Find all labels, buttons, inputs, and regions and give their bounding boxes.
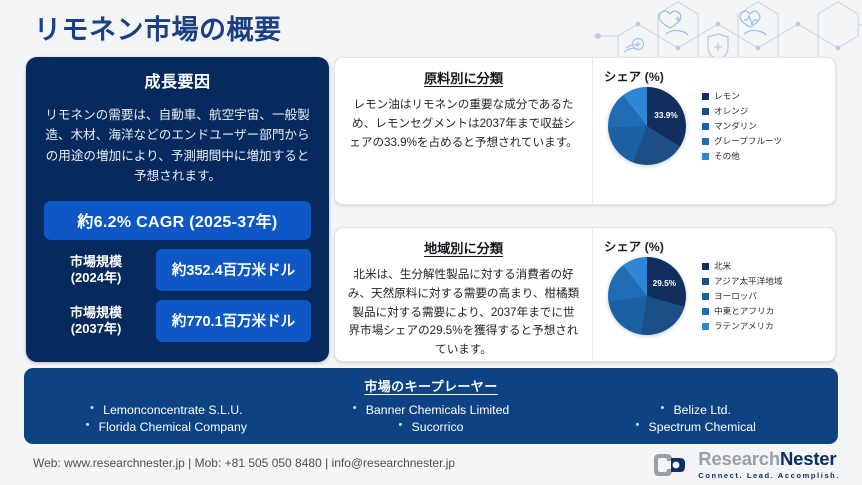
- panel-description: レモン油はリモネンの重要な成分であるため、レモンセグメントは2037年まで収益シ…: [347, 96, 580, 152]
- legend-label: 北米: [714, 260, 731, 272]
- legend-item: グレープフルーツ: [702, 135, 782, 147]
- heartbeat-icon: [740, 11, 766, 35]
- key-player-item: Belize Ltd.: [660, 403, 730, 417]
- key-player-item: Florida Chemical Company: [86, 420, 247, 434]
- pie-slices: [608, 87, 686, 165]
- logo-word-research: Research: [698, 448, 780, 469]
- legend-swatch: [702, 293, 709, 300]
- heart-health-icon: [659, 11, 688, 35]
- market-size-value-2024: 約352.4百万米ドル: [156, 249, 311, 291]
- market-size-row-2024: 市場規模(2024年) 約352.4百万米ドル: [44, 249, 311, 291]
- pie-chart-raw-material: 33.9%: [608, 87, 686, 165]
- panel-heading: 原料別に分類: [347, 68, 580, 87]
- key-player-item: Banner Chemicals Limited: [353, 403, 510, 417]
- legend-swatch: [702, 323, 709, 330]
- pie-slice-label: 29.5%: [653, 278, 677, 288]
- legend-item: マンダリン: [702, 120, 782, 132]
- legend-item: 中東とアフリカ: [702, 305, 782, 317]
- legend-swatch: [702, 263, 709, 270]
- legend-item: 北米: [702, 260, 782, 272]
- infographic-root: リモネン市場の概要 成長要因 リモネンの需要は、自動車、航空宇宙、一般製造、木材…: [0, 0, 862, 485]
- legend-label: 中東とアフリカ: [714, 305, 774, 317]
- growth-drivers-card: 成長要因 リモネンの需要は、自動車、航空宇宙、一般製造、木材、海洋などのエンドユ…: [26, 57, 329, 362]
- legend-swatch: [702, 123, 709, 130]
- panel-text-block: 地域別に分類 北米は、生分解性製品に対する消費者の好み、天然原料に対する需要の高…: [335, 228, 593, 361]
- legend-label: アジア太平洋地域: [714, 275, 782, 287]
- pie-slices: [608, 257, 686, 335]
- pie-slice-label: 33.9%: [654, 110, 678, 120]
- legend-label: レモン: [714, 90, 740, 102]
- market-size-row-2037: 市場規模(2037年) 約770.1百万米ドル: [44, 300, 311, 342]
- logo-mark-icon: [651, 451, 691, 479]
- key-players-column: Lemonconcentrate S.L.U.Florida Chemical …: [34, 403, 299, 434]
- footer-contact: Web: www.researchnester.jp | Mob: +81 50…: [33, 456, 455, 470]
- share-axis-label: シェア (%): [604, 237, 827, 255]
- legend-swatch: [702, 93, 709, 100]
- legend-label: グレープフルーツ: [714, 135, 782, 147]
- growth-drivers-title: 成長要因: [40, 68, 315, 92]
- cagr-badge: 約6.2% CAGR (2025-37年): [44, 201, 311, 240]
- key-player-item: Lemonconcentrate S.L.U.: [90, 403, 242, 417]
- market-size-label-2037: 市場規模(2037年): [44, 305, 148, 337]
- legend-swatch: [702, 108, 709, 115]
- key-players-band: 市場のキープレーヤー Lemonconcentrate S.L.U.Florid…: [24, 368, 838, 444]
- legend-item: その他: [702, 150, 782, 162]
- chart-legend: レモンオレンジマンダリングレープフルーツその他: [702, 90, 782, 162]
- share-axis-label: シェア (%): [604, 67, 827, 85]
- key-players-column: Banner Chemicals LimitedSucorrico: [299, 403, 564, 434]
- legend-item: アジア太平洋地域: [702, 275, 782, 287]
- key-player-item: Sucorrico: [399, 420, 464, 434]
- legend-label: マンダリン: [714, 120, 757, 132]
- legend-label: ヨーロッパ: [714, 290, 757, 302]
- legend-swatch: [702, 138, 709, 145]
- legend-item: ヨーロッパ: [702, 290, 782, 302]
- legend-item: オレンジ: [702, 105, 782, 117]
- panel-description: 北米は、生分解性製品に対する消費者の好み、天然原料に対する需要の高まり、柑橘類製…: [347, 266, 580, 360]
- key-players-heading: 市場のキープレーヤー: [34, 376, 828, 395]
- market-size-value-2037: 約770.1百万米ドル: [156, 300, 311, 342]
- legend-swatch: [702, 308, 709, 315]
- segmentation-panel-region: 地域別に分類 北米は、生分解性製品に対する消費者の好み、天然原料に対する需要の高…: [334, 227, 836, 362]
- panel-chart-block: シェア (%) 33.9% レモンオレンジマンダリングレープフルーツその他: [593, 58, 835, 204]
- legend-item: レモン: [702, 90, 782, 102]
- legend-swatch: [702, 278, 709, 285]
- key-players-column: Belize Ltd.Spectrum Chemical: [563, 403, 828, 434]
- panel-text-block: 原料別に分類 レモン油はリモネンの重要な成分であるため、レモンセグメントは203…: [335, 58, 593, 204]
- key-players-columns: Lemonconcentrate S.L.U.Florida Chemical …: [34, 403, 828, 434]
- segmentation-panel-raw-material: 原料別に分類 レモン油はリモネンの重要な成分であるため、レモンセグメントは203…: [334, 57, 836, 205]
- legend-label: その他: [714, 150, 740, 162]
- market-size-label-2024: 市場規模(2024年): [44, 254, 148, 286]
- logo-word-nester: Nester: [780, 448, 836, 469]
- legend-label: オレンジ: [714, 105, 748, 117]
- pie-chart-region: 29.5%: [608, 257, 686, 335]
- key-player-item: Spectrum Chemical: [636, 420, 756, 434]
- page-title: リモネン市場の概要: [34, 8, 282, 47]
- panel-heading: 地域別に分類: [347, 238, 580, 257]
- legend-item: ラテンアメリカ: [702, 320, 782, 332]
- panel-chart-block: シェア (%) 29.5% 北米アジア太平洋地域ヨーロッパ中東とアフリカラテンア…: [593, 228, 835, 361]
- legend-label: ラテンアメリカ: [714, 320, 774, 332]
- legend-swatch: [702, 153, 709, 160]
- chart-legend: 北米アジア太平洋地域ヨーロッパ中東とアフリカラテンアメリカ: [702, 260, 782, 332]
- growth-drivers-body: リモネンの需要は、自動車、航空宇宙、一般製造、木材、海洋などのエンドユーザー部門…: [40, 105, 315, 187]
- hand-care-icon: [624, 39, 644, 53]
- research-nester-logo: ResearchNester Connect. Lead. Accomplish…: [651, 450, 840, 479]
- logo-tagline: Connect. Lead. Accomplish.: [698, 472, 840, 480]
